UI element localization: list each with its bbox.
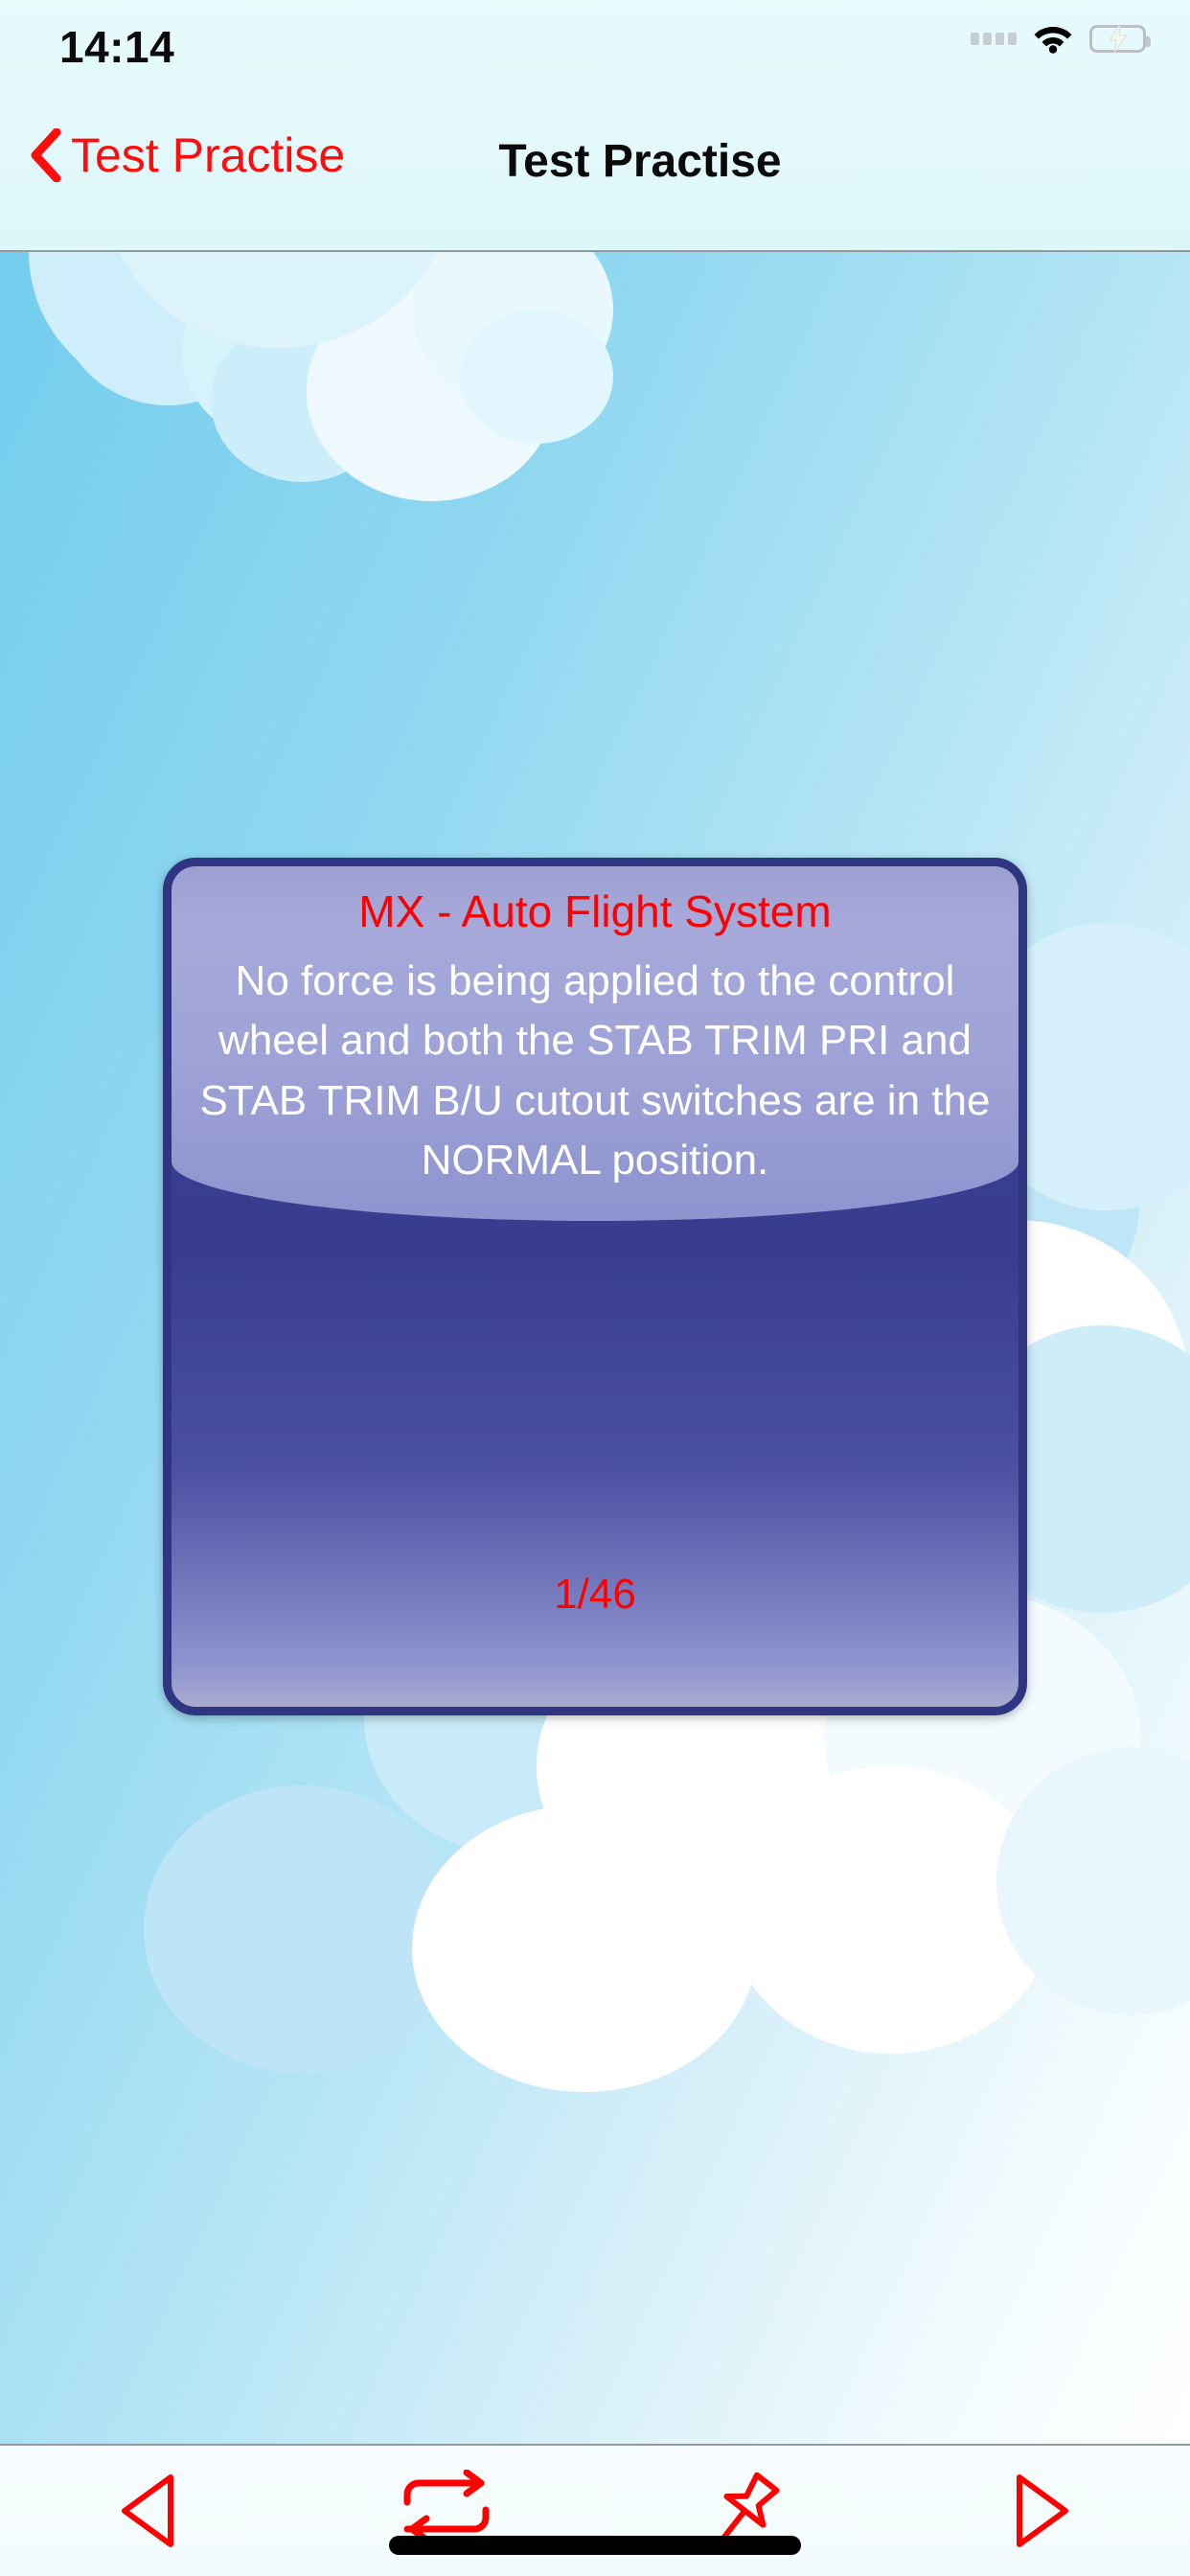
triangle-right-icon	[1004, 2470, 1079, 2552]
battery-charging-icon	[1089, 25, 1146, 53]
chevron-left-icon	[29, 128, 61, 182]
home-indicator[interactable]	[389, 2536, 801, 2555]
status-bar-time: 14:14	[59, 21, 174, 73]
shuffle-repeat-button[interactable]	[298, 2445, 596, 2576]
navigation-bar: Test Practise Test Practise	[0, 88, 1190, 252]
wifi-icon	[1033, 23, 1073, 54]
cloud-shape	[412, 1805, 757, 2092]
status-bar: 14:14	[0, 0, 1190, 88]
cloud-shape	[460, 310, 613, 444]
back-button-label: Test Practise	[71, 131, 345, 179]
triangle-left-icon	[111, 2470, 186, 2552]
flashcard-front-panel: MX - Auto Flight System No force is bein…	[172, 866, 1018, 1221]
flashcard[interactable]: MX - Auto Flight System No force is bein…	[163, 858, 1027, 1715]
status-bar-indicators	[971, 23, 1146, 54]
previous-button[interactable]	[0, 2445, 298, 2576]
flashcard-title: MX - Auto Flight System	[189, 887, 1001, 936]
pin-button[interactable]	[595, 2445, 893, 2576]
bottom-toolbar	[0, 2444, 1190, 2576]
page-title-text: Test Practise	[498, 135, 781, 188]
back-button[interactable]: Test Practise	[29, 128, 345, 182]
phone-screen: MX - Auto Flight System No force is bein…	[0, 0, 1190, 2576]
flashcard-counter: 1/46	[172, 1571, 1018, 1619]
next-button[interactable]	[893, 2445, 1190, 2576]
flashcard-body-text: No force is being applied to the control…	[189, 952, 1001, 1191]
signal-dots-icon	[971, 33, 1017, 45]
